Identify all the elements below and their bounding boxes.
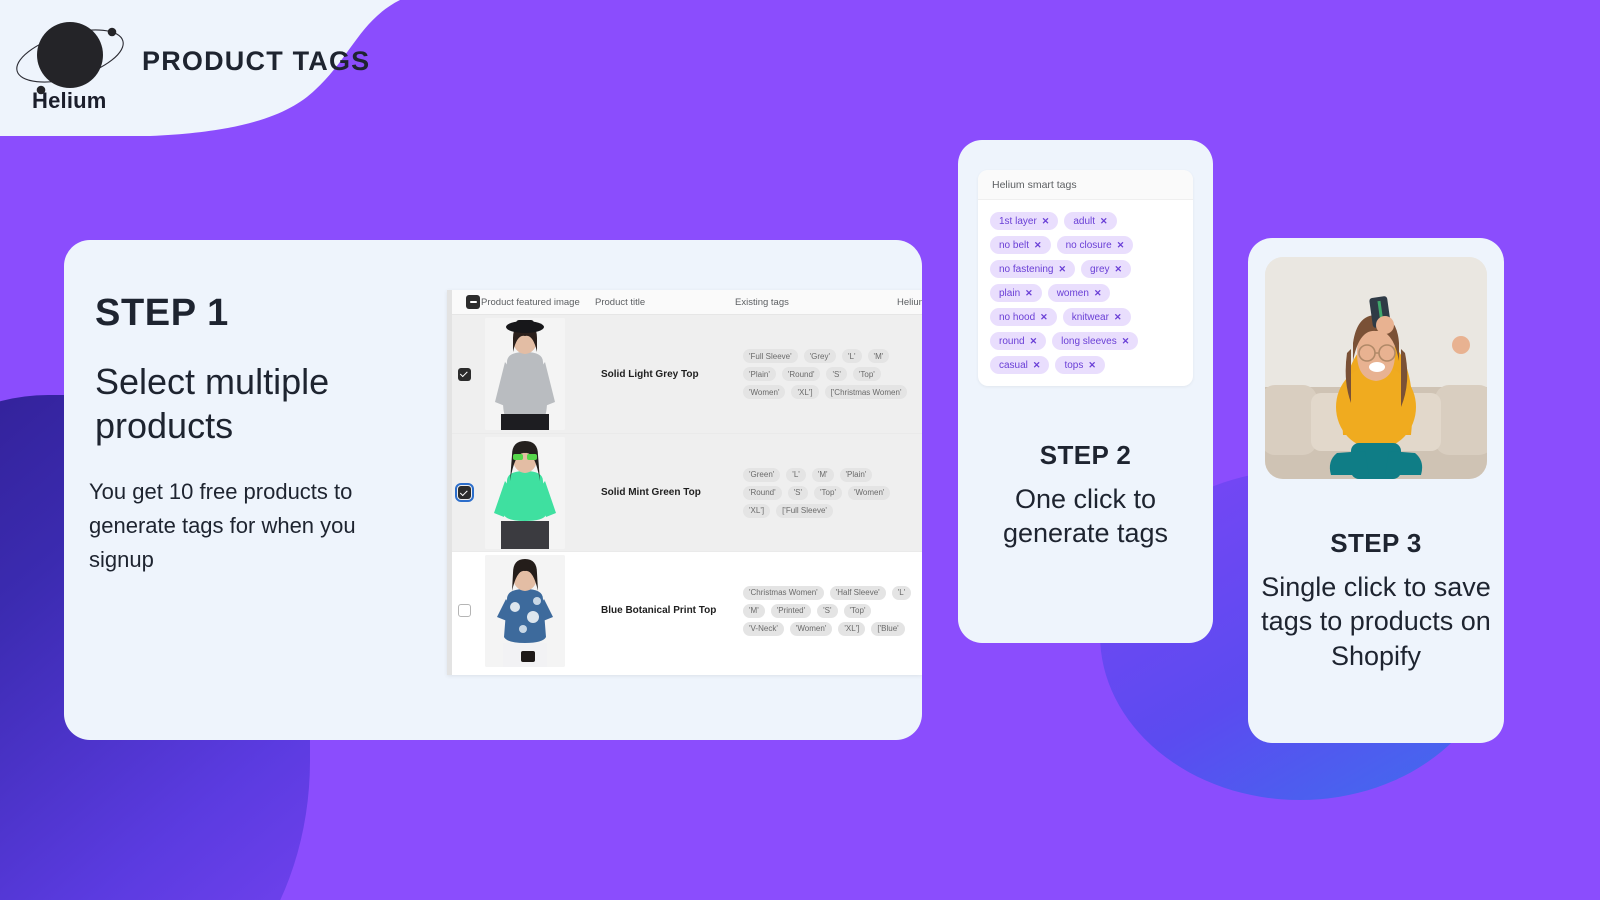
existing-tag: 'S' bbox=[826, 367, 846, 381]
existing-tag: 'V-Neck' bbox=[743, 622, 784, 636]
close-icon[interactable]: ✕ bbox=[1122, 336, 1130, 347]
table-row[interactable]: Solid Mint Green Top'Green''L''M''Plain'… bbox=[447, 433, 922, 551]
smart-tag-label: knitwear bbox=[1072, 312, 1109, 323]
smart-tag[interactable]: grey✕ bbox=[1081, 260, 1131, 278]
close-icon[interactable]: ✕ bbox=[1094, 288, 1102, 299]
product-title: Solid Mint Green Top bbox=[593, 487, 743, 498]
existing-tag: 'Women' bbox=[848, 486, 890, 500]
existing-tags-list: 'Green''L''M''Plain''Round''S''Top''Wome… bbox=[743, 468, 913, 518]
existing-tag: 'Round' bbox=[743, 486, 782, 500]
table-row[interactable]: Solid Light Grey Top'Full Sleeve''Grey''… bbox=[447, 315, 922, 433]
smart-tag-label: round bbox=[999, 336, 1025, 347]
smart-tag[interactable]: no fastening✕ bbox=[990, 260, 1075, 278]
table-row[interactable]: Blue Botanical Print Top'Christmas Women… bbox=[447, 551, 922, 669]
product-title: Blue Botanical Print Top bbox=[593, 605, 743, 616]
existing-tag: 'Christmas Women' bbox=[743, 586, 824, 600]
existing-tag: ['Full Sleeve' bbox=[776, 504, 833, 518]
smart-tag-label: long sleeves bbox=[1061, 336, 1117, 347]
close-icon[interactable]: ✕ bbox=[1059, 264, 1067, 275]
existing-tag: 'Women' bbox=[790, 622, 832, 636]
close-icon[interactable]: ✕ bbox=[1034, 240, 1042, 251]
product-image-cell bbox=[481, 318, 593, 430]
step-2-label: STEP 2 bbox=[958, 440, 1213, 471]
step-3-heading: Single click to save tags to products on… bbox=[1260, 570, 1492, 673]
existing-tag: 'S' bbox=[788, 486, 808, 500]
existing-tags-cell: 'Full Sleeve''Grey''L''M''Plain''Round''… bbox=[743, 349, 922, 399]
existing-tag: 'S' bbox=[817, 604, 837, 618]
row-select-checkbox[interactable] bbox=[458, 604, 471, 617]
close-icon[interactable]: ✕ bbox=[1040, 312, 1048, 323]
product-featured-image bbox=[485, 437, 565, 549]
row-select-checkbox[interactable] bbox=[458, 486, 471, 499]
smart-tag-label: no closure bbox=[1066, 240, 1112, 251]
product-table: Product featured image Product title Exi… bbox=[447, 290, 922, 675]
existing-tag: ['Blue' bbox=[871, 622, 904, 636]
smart-tag[interactable]: adult✕ bbox=[1064, 212, 1116, 230]
step-2-card: Helium smart tags 1st layer✕adult✕no bel… bbox=[958, 140, 1213, 643]
smart-tag-label: no hood bbox=[999, 312, 1035, 323]
table-header-row: Product featured image Product title Exi… bbox=[447, 290, 922, 315]
product-featured-image bbox=[485, 555, 565, 667]
existing-tag: 'XL'] bbox=[838, 622, 865, 636]
smart-tag-label: tops bbox=[1064, 360, 1083, 371]
existing-tag: 'XL'] bbox=[791, 385, 818, 399]
existing-tag: 'Full Sleeve' bbox=[743, 349, 798, 363]
existing-tags-cell: 'Green''L''M''Plain''Round''S''Top''Wome… bbox=[743, 468, 922, 518]
close-icon[interactable]: ✕ bbox=[1088, 360, 1096, 371]
smart-tag-label: 1st layer bbox=[999, 216, 1037, 227]
existing-tag: 'M' bbox=[812, 468, 834, 482]
step-2-heading: One click to generate tags bbox=[972, 482, 1199, 551]
existing-tag: 'L' bbox=[842, 349, 862, 363]
step-1-heading: Select multiple products bbox=[95, 360, 445, 448]
close-icon[interactable]: ✕ bbox=[1030, 336, 1038, 347]
existing-tag: 'Women' bbox=[743, 385, 785, 399]
step-1-card: STEP 1 Select multiple products You get … bbox=[64, 240, 922, 740]
product-image-cell bbox=[481, 437, 593, 549]
product-title: Solid Light Grey Top bbox=[593, 369, 743, 380]
step-3-card: STEP 3 Single click to save tags to prod… bbox=[1248, 238, 1504, 743]
existing-tags-list: 'Full Sleeve''Grey''L''M''Plain''Round''… bbox=[743, 349, 913, 399]
column-header-image: Product featured image bbox=[481, 297, 580, 308]
close-icon[interactable]: ✕ bbox=[1033, 360, 1041, 371]
smart-tag[interactable]: knitwear✕ bbox=[1063, 308, 1131, 326]
smart-tag[interactable]: no hood✕ bbox=[990, 308, 1057, 326]
existing-tag: 'Plain' bbox=[743, 367, 776, 381]
page-title: PRODUCT TAGS bbox=[142, 46, 370, 77]
smart-tag-label: plain bbox=[999, 288, 1020, 299]
column-header-title: Product title bbox=[595, 297, 645, 308]
smart-tag-label: women bbox=[1057, 288, 1089, 299]
smart-tags-list: 1st layer✕adult✕no belt✕no closure✕no fa… bbox=[978, 200, 1193, 374]
close-icon[interactable]: ✕ bbox=[1114, 312, 1122, 323]
smart-tag[interactable]: no belt✕ bbox=[990, 236, 1051, 254]
smart-tag[interactable]: tops✕ bbox=[1055, 356, 1104, 374]
existing-tag: 'L' bbox=[892, 586, 912, 600]
smart-tag-label: adult bbox=[1073, 216, 1095, 227]
existing-tags-cell: 'Christmas Women''Half Sleeve''L''M''Pri… bbox=[743, 586, 922, 636]
product-featured-image bbox=[485, 318, 565, 430]
smart-tag-label: grey bbox=[1090, 264, 1109, 275]
smart-tag[interactable]: women✕ bbox=[1048, 284, 1111, 302]
row-select-checkbox[interactable] bbox=[458, 368, 471, 381]
existing-tag: 'Grey' bbox=[804, 349, 836, 363]
existing-tag: 'Top' bbox=[814, 486, 842, 500]
brand-name: Helium bbox=[32, 88, 107, 114]
smart-tags-panel-title: Helium smart tags bbox=[978, 170, 1193, 200]
product-image-cell bbox=[481, 555, 593, 667]
existing-tag: 'M' bbox=[743, 604, 765, 618]
existing-tag: 'Top' bbox=[853, 367, 881, 381]
row-checkbox-cell bbox=[447, 368, 481, 381]
step-3-label: STEP 3 bbox=[1248, 528, 1504, 559]
smart-tag[interactable]: no closure✕ bbox=[1057, 236, 1134, 254]
row-checkbox-cell bbox=[447, 604, 481, 617]
step-3-photo bbox=[1265, 257, 1487, 479]
step-1-body: You get 10 free products to generate tag… bbox=[89, 475, 419, 577]
existing-tag: 'XL'] bbox=[743, 504, 770, 518]
smart-tag[interactable]: plain✕ bbox=[990, 284, 1042, 302]
existing-tag: 'Printed' bbox=[771, 604, 811, 618]
smart-tag[interactable]: casual✕ bbox=[990, 356, 1049, 374]
existing-tag: 'Green' bbox=[743, 468, 780, 482]
close-icon[interactable]: ✕ bbox=[1100, 216, 1108, 227]
smart-tag[interactable]: round✕ bbox=[990, 332, 1046, 350]
smart-tag-label: no fastening bbox=[999, 264, 1054, 275]
existing-tag: ['Christmas Women' bbox=[825, 385, 908, 399]
close-icon[interactable]: ✕ bbox=[1042, 216, 1050, 227]
close-icon[interactable]: ✕ bbox=[1117, 240, 1125, 251]
column-header-helium-tags: Helium s bbox=[897, 297, 922, 308]
existing-tag: 'Plain' bbox=[840, 468, 873, 482]
existing-tag: 'M' bbox=[868, 349, 890, 363]
table-body: Solid Light Grey Top'Full Sleeve''Grey''… bbox=[447, 315, 922, 669]
existing-tag: 'Round' bbox=[782, 367, 821, 381]
smart-tag-label: casual bbox=[999, 360, 1028, 371]
column-header-existing-tags: Existing tags bbox=[735, 297, 789, 308]
smart-tag[interactable]: long sleeves✕ bbox=[1052, 332, 1138, 350]
table-scrollbar[interactable] bbox=[447, 290, 452, 675]
smart-tag-label: no belt bbox=[999, 240, 1029, 251]
smart-tag[interactable]: 1st layer✕ bbox=[990, 212, 1058, 230]
existing-tag: 'L' bbox=[786, 468, 806, 482]
close-icon[interactable]: ✕ bbox=[1025, 288, 1033, 299]
existing-tag: 'Half Sleeve' bbox=[830, 586, 886, 600]
existing-tag: 'Top' bbox=[844, 604, 872, 618]
close-icon[interactable]: ✕ bbox=[1115, 264, 1123, 275]
row-checkbox-cell bbox=[447, 486, 481, 499]
helium-smart-tags-panel: Helium smart tags 1st layer✕adult✕no bel… bbox=[978, 170, 1193, 386]
select-all-checkbox[interactable] bbox=[466, 295, 480, 309]
existing-tags-list: 'Christmas Women''Half Sleeve''L''M''Pri… bbox=[743, 586, 913, 636]
step-1-label: STEP 1 bbox=[95, 292, 229, 335]
